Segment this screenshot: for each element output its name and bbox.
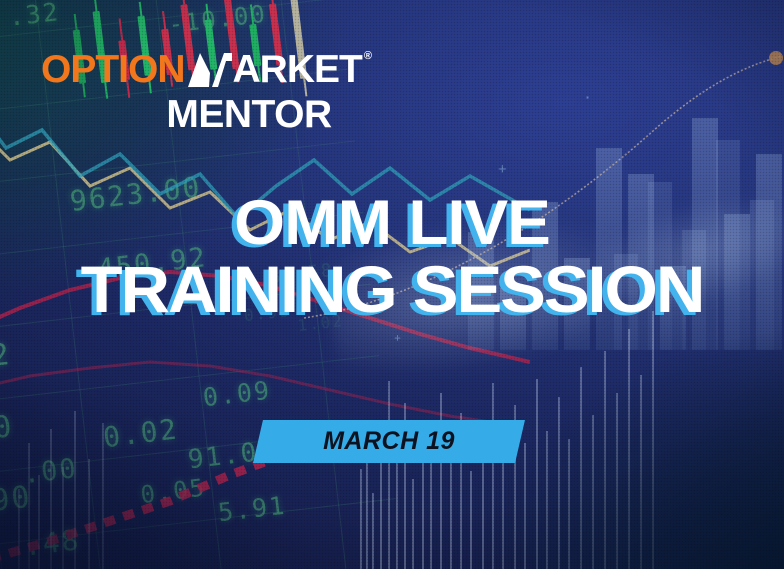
- promo-banner-canvas: .32 78 09 80 32 .90 9623.00 450.92 -10.0…: [0, 0, 784, 569]
- logo-word-market: ARKET: [233, 50, 362, 90]
- logo-top-row: OPTION ARKET ®: [41, 50, 411, 96]
- headline-line-2: TRAINING SESSION: [0, 256, 784, 322]
- registered-trademark-icon: ®: [364, 51, 371, 62]
- logo-word-option: OPTION: [41, 50, 185, 90]
- chart-zigzag-m-icon: [186, 51, 232, 97]
- brand-logo[interactable]: OPTION ARKET ® MENTOR: [41, 50, 411, 135]
- date-badge-label: MARCH 19: [258, 420, 520, 463]
- page-title: OMM LIVE TRAINING SESSION: [0, 190, 784, 322]
- headline-line-1: OMM LIVE: [234, 188, 550, 258]
- logo-word-mentor: MENTOR: [41, 94, 411, 135]
